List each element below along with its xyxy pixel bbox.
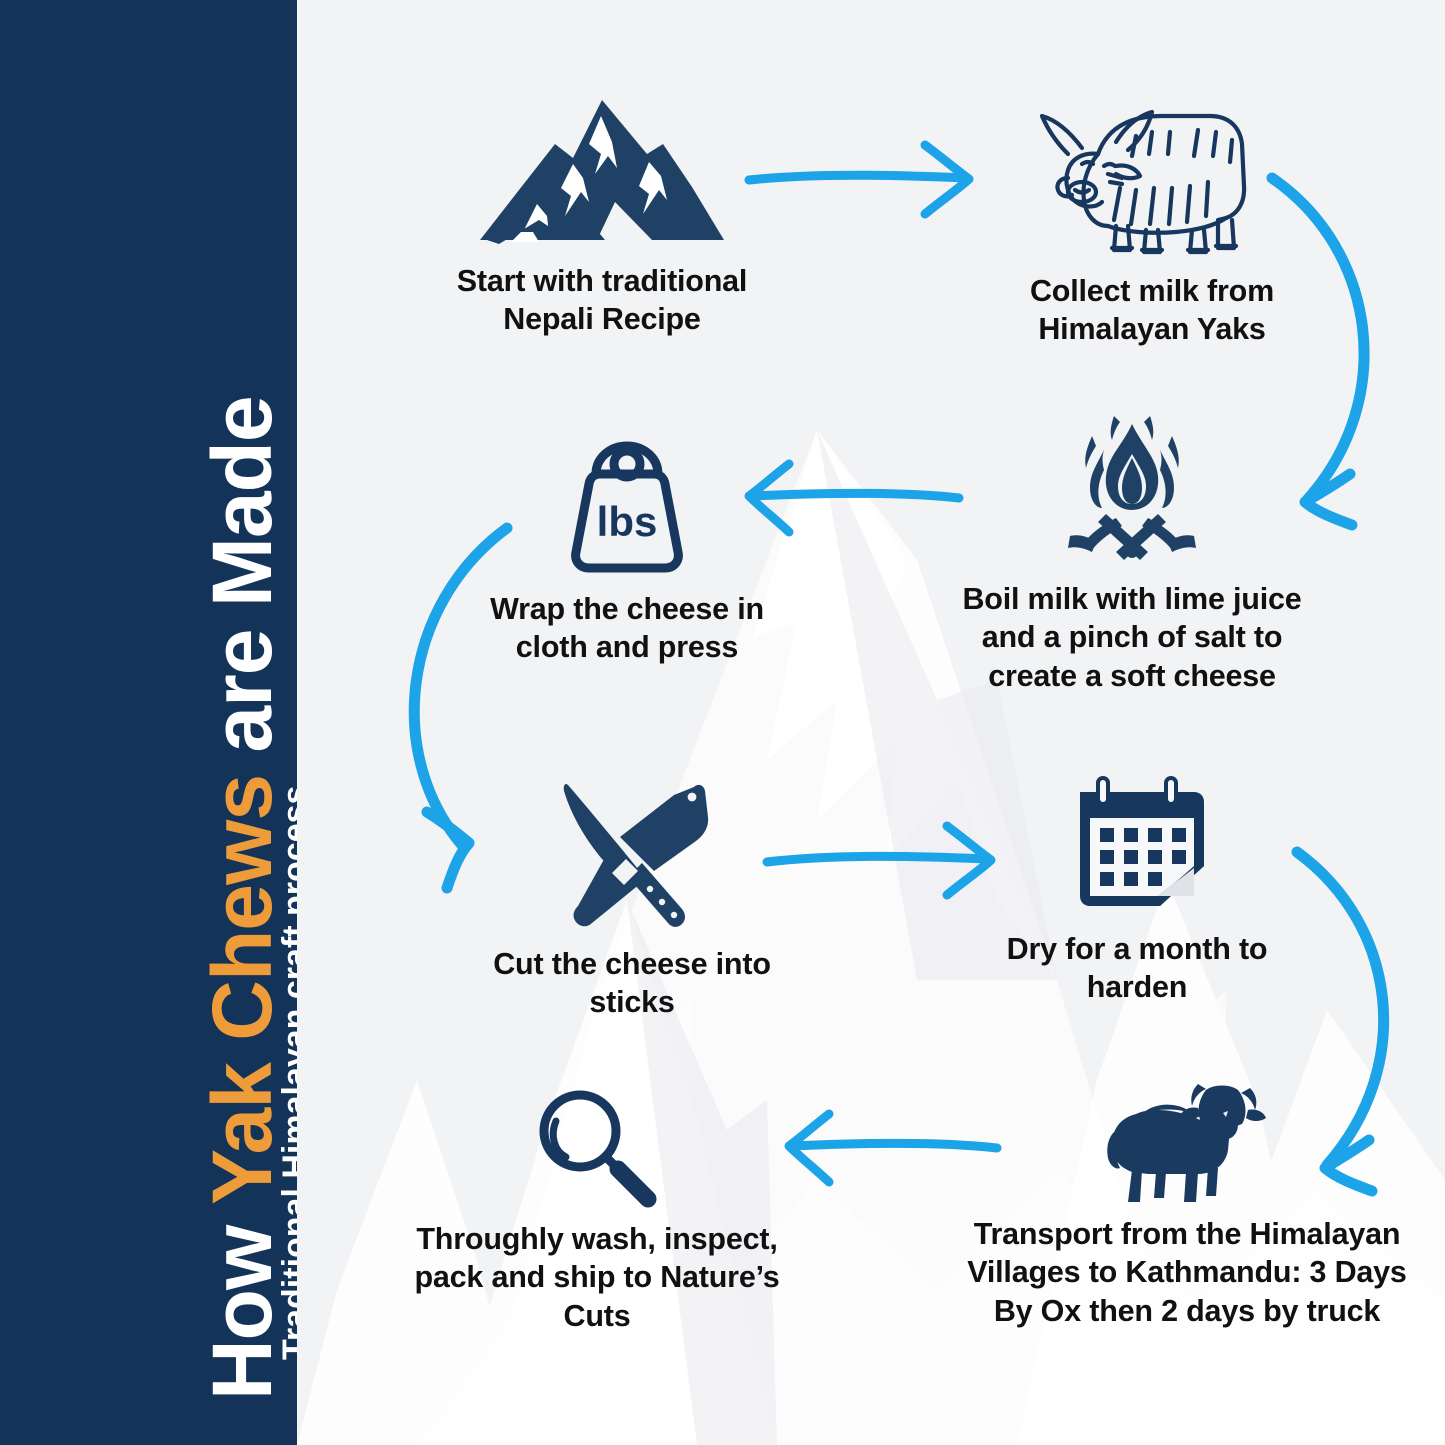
step-7-caption-line-2: Villages to Kathmandu: 3 Days (967, 1253, 1406, 1291)
step-8-caption-line-1: Throughly wash, inspect, (414, 1220, 779, 1258)
step-8-icon-box (530, 1085, 665, 1210)
step-2-icon-box (1012, 82, 1292, 262)
step-4-caption: Wrap the cheese in cloth and press (490, 590, 764, 667)
yak-icon (1012, 82, 1292, 262)
infographic-page: How Yak Chews are Made Traditional Himal… (0, 0, 1445, 1445)
step-2-caption-line-2: Himalayan Yaks (1030, 310, 1274, 348)
page-title: How Yak Chews are Made (200, 396, 284, 1400)
process-flow: Start with traditional Nepali Recipe (297, 0, 1445, 1445)
step-1-caption: Start with traditional Nepali Recipe (457, 262, 747, 339)
step-8-caption-line-3: Cuts (414, 1297, 779, 1335)
step-3-caption-line-3: create a soft cheese (962, 657, 1301, 695)
step-7: Transport from the Himalayan Villages to… (937, 1080, 1437, 1330)
step-2-caption-line-1: Collect milk from (1030, 272, 1274, 310)
step-3-caption: Boil milk with lime juice and a pinch of… (962, 580, 1301, 695)
knife-cleaver-icon (542, 775, 722, 935)
step-6: Dry for a month to harden (927, 770, 1347, 1007)
step-8: Throughly wash, inspect, pack and ship t… (357, 1085, 837, 1335)
step-7-icon-box (1102, 1080, 1272, 1205)
step-8-caption-line-2: pack and ship to Nature’s (414, 1258, 779, 1296)
step-1-caption-line-1: Start with traditional (457, 262, 747, 300)
step-8-caption: Throughly wash, inspect, pack and ship t… (414, 1220, 779, 1335)
step-3-icon-box (1052, 410, 1212, 570)
step-7-caption: Transport from the Himalayan Villages to… (967, 1215, 1406, 1330)
step-3: Boil milk with lime juice and a pinch of… (897, 410, 1367, 695)
step-5-icon-box (542, 775, 722, 935)
weight-icon-label: lbs (597, 498, 658, 545)
step-5: Cut the cheese into sticks (417, 775, 847, 1022)
step-4-caption-line-2: cloth and press (490, 628, 764, 666)
step-5-caption-line-2: sticks (493, 983, 771, 1021)
step-1-icon-box (477, 92, 727, 252)
step-1-caption-line-2: Nepali Recipe (457, 300, 747, 338)
step-2: Collect milk from Himalayan Yaks (937, 82, 1367, 349)
page-subtitle: Traditional Himalayan craft process (278, 786, 297, 1360)
step-6-icon-box (1062, 770, 1212, 920)
ox-icon (1102, 1080, 1272, 1205)
step-2-caption: Collect milk from Himalayan Yaks (1030, 272, 1274, 349)
calendar-icon (1062, 770, 1212, 920)
page-title-part-3: are Made (195, 396, 289, 775)
step-7-caption-line-3: By Ox then 2 days by truck (967, 1292, 1406, 1330)
step-1: Start with traditional Nepali Recipe (387, 92, 817, 339)
step-4: lbs Wrap the cheese in cloth and press (417, 430, 837, 667)
step-5-caption-line-1: Cut the cheese into (493, 945, 771, 983)
step-5-caption: Cut the cheese into sticks (493, 945, 771, 1022)
sidebar-title-panel: How Yak Chews are Made Traditional Himal… (0, 0, 297, 1445)
step-3-caption-line-2: and a pinch of salt to (962, 618, 1301, 656)
step-7-caption-line-1: Transport from the Himalayan (967, 1215, 1406, 1253)
step-6-caption: Dry for a month to harden (1007, 930, 1268, 1007)
campfire-icon (1052, 410, 1212, 570)
step-6-caption-line-2: harden (1007, 968, 1268, 1006)
step-4-caption-line-1: Wrap the cheese in (490, 590, 764, 628)
step-6-caption-line-1: Dry for a month to (1007, 930, 1268, 968)
page-title-part-1: How (195, 1205, 289, 1400)
page-title-highlight: Yak Chews (195, 775, 289, 1205)
magnifying-glass-icon (530, 1085, 665, 1210)
step-4-icon-box: lbs (552, 430, 702, 580)
weight-lbs-icon: lbs (552, 430, 702, 580)
mountain-icon (477, 92, 727, 252)
step-3-caption-line-1: Boil milk with lime juice (962, 580, 1301, 618)
